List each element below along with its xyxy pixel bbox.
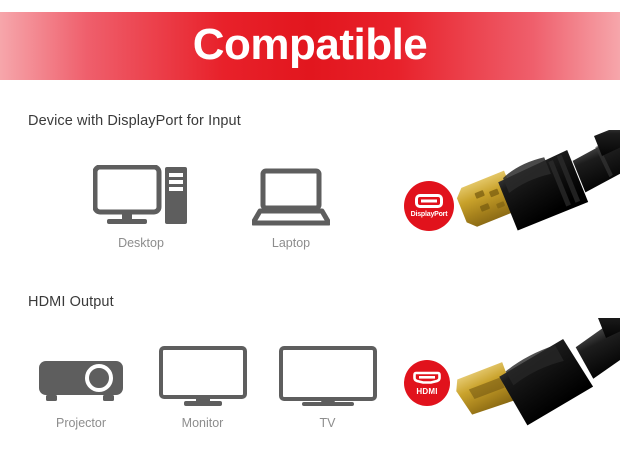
monitor-icon <box>158 345 248 407</box>
device-laptop: Laptop <box>216 165 366 250</box>
device-label-desktop: Desktop <box>118 236 164 250</box>
tv-icon <box>278 345 378 407</box>
hdmi-cable-icon <box>452 318 620 450</box>
monitor-art <box>158 345 248 407</box>
hdmi-connector-icon <box>413 371 441 384</box>
hdmi-badge-label: HDMI <box>416 388 437 396</box>
page-title: Compatible <box>193 23 428 67</box>
desktop-art <box>93 165 189 227</box>
section-heading-input: Device with DisplayPort for Input <box>28 113 241 129</box>
device-desktop: Desktop <box>66 165 216 250</box>
desktop-icon <box>93 165 189 227</box>
device-label-tv: TV <box>320 416 336 430</box>
hdmi-cable <box>452 318 620 455</box>
device-tv: TV <box>265 345 390 430</box>
device-projector: Projector <box>22 355 140 430</box>
displayport-cable <box>452 130 620 260</box>
tv-art <box>278 345 378 407</box>
device-row-input: Desktop Laptop <box>66 165 366 250</box>
device-row-output: Projector Monitor TV <box>22 345 390 430</box>
displayport-cable-icon <box>452 130 620 255</box>
device-label-laptop: Laptop <box>272 236 310 250</box>
hdmi-badge: HDMI <box>404 360 450 406</box>
displayport-connector-icon <box>415 194 443 208</box>
projector-icon <box>37 355 125 407</box>
device-label-projector: Projector <box>56 416 106 430</box>
projector-art <box>37 355 125 407</box>
displayport-badge: DisplayPort <box>404 181 454 231</box>
displayport-badge-label: DisplayPort <box>411 211 448 218</box>
laptop-art <box>252 165 330 227</box>
section-heading-output: HDMI Output <box>28 294 114 310</box>
laptop-icon <box>252 165 330 227</box>
device-monitor: Monitor <box>140 345 265 430</box>
compatible-banner: Compatible <box>0 12 620 80</box>
device-label-monitor: Monitor <box>182 416 224 430</box>
